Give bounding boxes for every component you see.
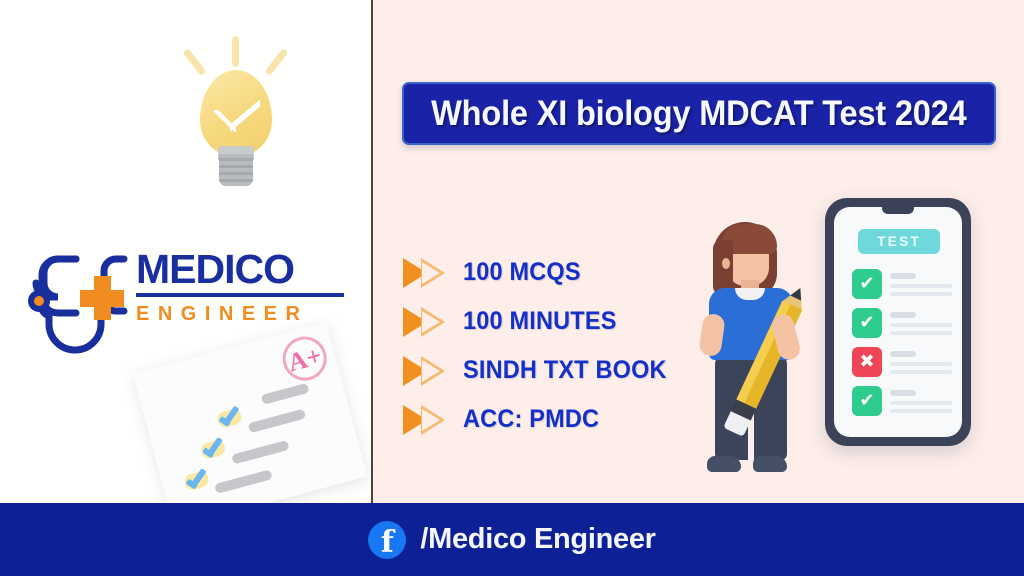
left-panel: MEDICO ENGINEER A+ — [0, 0, 373, 503]
phone-screen: TEST ✔ ✔ ✖ — [834, 207, 962, 437]
shoe-right — [753, 456, 787, 472]
quiz-line — [890, 273, 916, 279]
quiz-line — [890, 284, 952, 288]
logo-secondary-text: ENGINEER — [136, 304, 348, 324]
quiz-line — [890, 331, 952, 335]
facebook-glyph: f — [368, 521, 406, 559]
lightbulb-glass — [200, 70, 272, 156]
feature-item: SINDH TXT BOOK — [403, 346, 703, 395]
quiz-row: ✖ — [852, 347, 952, 381]
shoe-left — [707, 456, 741, 472]
double-arrow-icon — [403, 307, 451, 337]
lightbulb-ray-middle — [232, 36, 239, 67]
quiz-line — [890, 362, 952, 366]
lightbulb-base — [219, 154, 253, 186]
double-arrow-icon — [403, 258, 451, 288]
test-header-chip: TEST — [858, 229, 940, 254]
cross-icon: ✖ — [852, 347, 882, 377]
title-banner: Whole XI biology MDCAT Test 2024 — [402, 82, 996, 145]
medical-cross-icon — [80, 276, 124, 320]
quiz-line — [890, 390, 916, 396]
footer-bar: f /Medico Engineer — [0, 503, 1024, 576]
quiz-line — [890, 351, 916, 357]
phone-notch — [882, 207, 914, 214]
feature-label: 100 MINUTES — [463, 307, 617, 336]
lightbulb-icon — [178, 22, 294, 182]
quiz-line — [890, 292, 952, 296]
smartphone-illustration: TEST ✔ ✔ ✖ — [825, 198, 971, 446]
poster-root: MEDICO ENGINEER A+ Whole XI biology MDCA… — [0, 0, 1024, 576]
logo-primary-text: MEDICO — [136, 249, 348, 290]
quiz-line — [890, 370, 952, 374]
feature-item: ACC: PMDC — [403, 395, 703, 444]
feature-label: ACC: PMDC — [463, 405, 599, 434]
student-illustration — [691, 222, 841, 484]
check-icon: ✔ — [852, 269, 882, 299]
quiz-line — [890, 409, 952, 413]
right-panel: Whole XI biology MDCAT Test 2024 100 MCQ… — [373, 0, 1024, 503]
facebook-icon[interactable]: f — [368, 521, 406, 559]
double-arrow-icon — [403, 356, 451, 386]
quiz-row: ✔ — [852, 308, 952, 342]
feature-item: 100 MCQS — [403, 248, 703, 297]
double-arrow-icon — [403, 405, 451, 435]
quiz-line — [890, 401, 952, 405]
feature-item: 100 MINUTES — [403, 297, 703, 346]
check-icon: ✔ — [852, 386, 882, 416]
logo-divider-rule — [136, 293, 344, 297]
feature-label: SINDH TXT BOOK — [463, 356, 667, 385]
logo-wordmark: MEDICO ENGINEER — [136, 249, 348, 324]
lightbulb-ray-right — [265, 48, 289, 76]
check-icon: ✔ — [852, 308, 882, 338]
quiz-line — [890, 312, 916, 318]
quiz-row: ✔ — [852, 269, 952, 303]
quiz-row: ✔ — [852, 386, 952, 420]
lightbulb-ray-left — [183, 48, 207, 76]
quiz-line — [890, 323, 952, 327]
feature-label: 100 MCQS — [463, 258, 581, 287]
feature-list: 100 MCQS 100 MINUTES SINDH TXT BOOK ACC:… — [403, 248, 703, 444]
facebook-handle[interactable]: /Medico Engineer — [420, 523, 655, 556]
page-title: Whole XI biology MDCAT Test 2024 — [431, 94, 966, 134]
ear — [722, 258, 730, 269]
